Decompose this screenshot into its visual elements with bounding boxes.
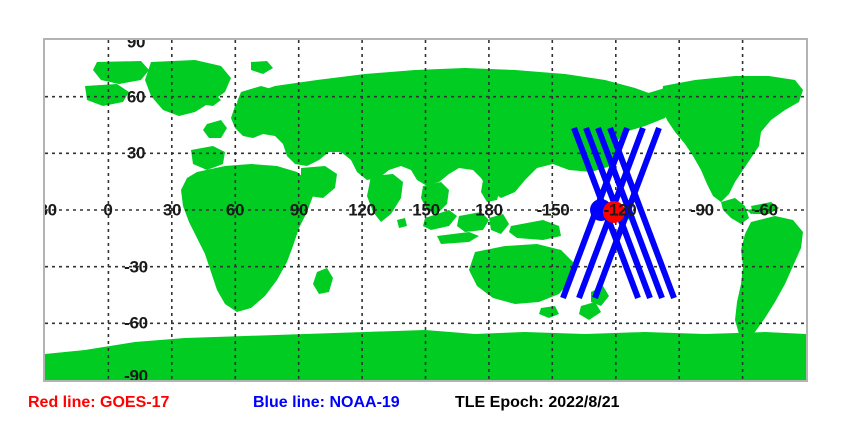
- landmass-layer: [45, 60, 806, 380]
- lon-label--90: -90: [690, 202, 714, 219]
- lon-label--120: -120: [604, 202, 637, 219]
- lat-label-30: 30: [127, 145, 145, 162]
- lon-label-120: 120: [348, 202, 375, 219]
- lat-label-90: 90: [127, 38, 145, 51]
- land-australia: [469, 244, 573, 304]
- lat-label--60: -60: [124, 315, 148, 332]
- satellite-ground-track-map: -30 0 30 60 90 120 150 180 -150 -120 -90…: [0, 0, 850, 425]
- lon-label-0: 0: [103, 202, 112, 219]
- lon-label--60: -60: [754, 202, 778, 219]
- land-sri-lanka: [397, 218, 407, 228]
- land-madagascar: [313, 268, 333, 294]
- land-greenland: [145, 60, 231, 116]
- land-canada-arctic: [93, 61, 149, 84]
- lon-label-90: 90: [290, 202, 308, 219]
- legend-tle-epoch: TLE Epoch: 2022/8/21: [455, 388, 620, 418]
- land-tasmania: [539, 306, 559, 318]
- land-svalbard: [251, 61, 273, 74]
- land-central-america: [721, 198, 749, 224]
- lon-label-150: 150: [412, 202, 439, 219]
- lon-label-30: 30: [163, 202, 181, 219]
- lat-label--30: -30: [124, 259, 148, 276]
- lon-label-180: 180: [475, 202, 502, 219]
- lon-label--30: -30: [43, 202, 57, 219]
- map-legend: Red line: GOES-17 Blue line: NOAA-19 TLE…: [0, 388, 850, 425]
- legend-goes17: Red line: GOES-17: [28, 388, 169, 418]
- lat-label--90: -90: [124, 368, 148, 383]
- land-newzealand-south: [579, 302, 601, 320]
- legend-noaa19: Blue line: NOAA-19: [253, 388, 400, 418]
- land-newguinea: [509, 220, 561, 240]
- land-baffin: [85, 84, 129, 106]
- land-africa: [181, 164, 313, 312]
- lon-label-60: 60: [226, 202, 244, 219]
- land-north-america: [661, 76, 803, 202]
- land-south-america: [735, 216, 803, 340]
- lon-label--150: -150: [537, 202, 570, 219]
- land-java: [437, 232, 479, 244]
- lat-label-60: 60: [127, 89, 145, 106]
- land-british-isles: [203, 120, 227, 138]
- land-iberia: [191, 146, 225, 170]
- map-plot-area: -30 0 30 60 90 120 150 180 -150 -120 -90…: [43, 38, 808, 382]
